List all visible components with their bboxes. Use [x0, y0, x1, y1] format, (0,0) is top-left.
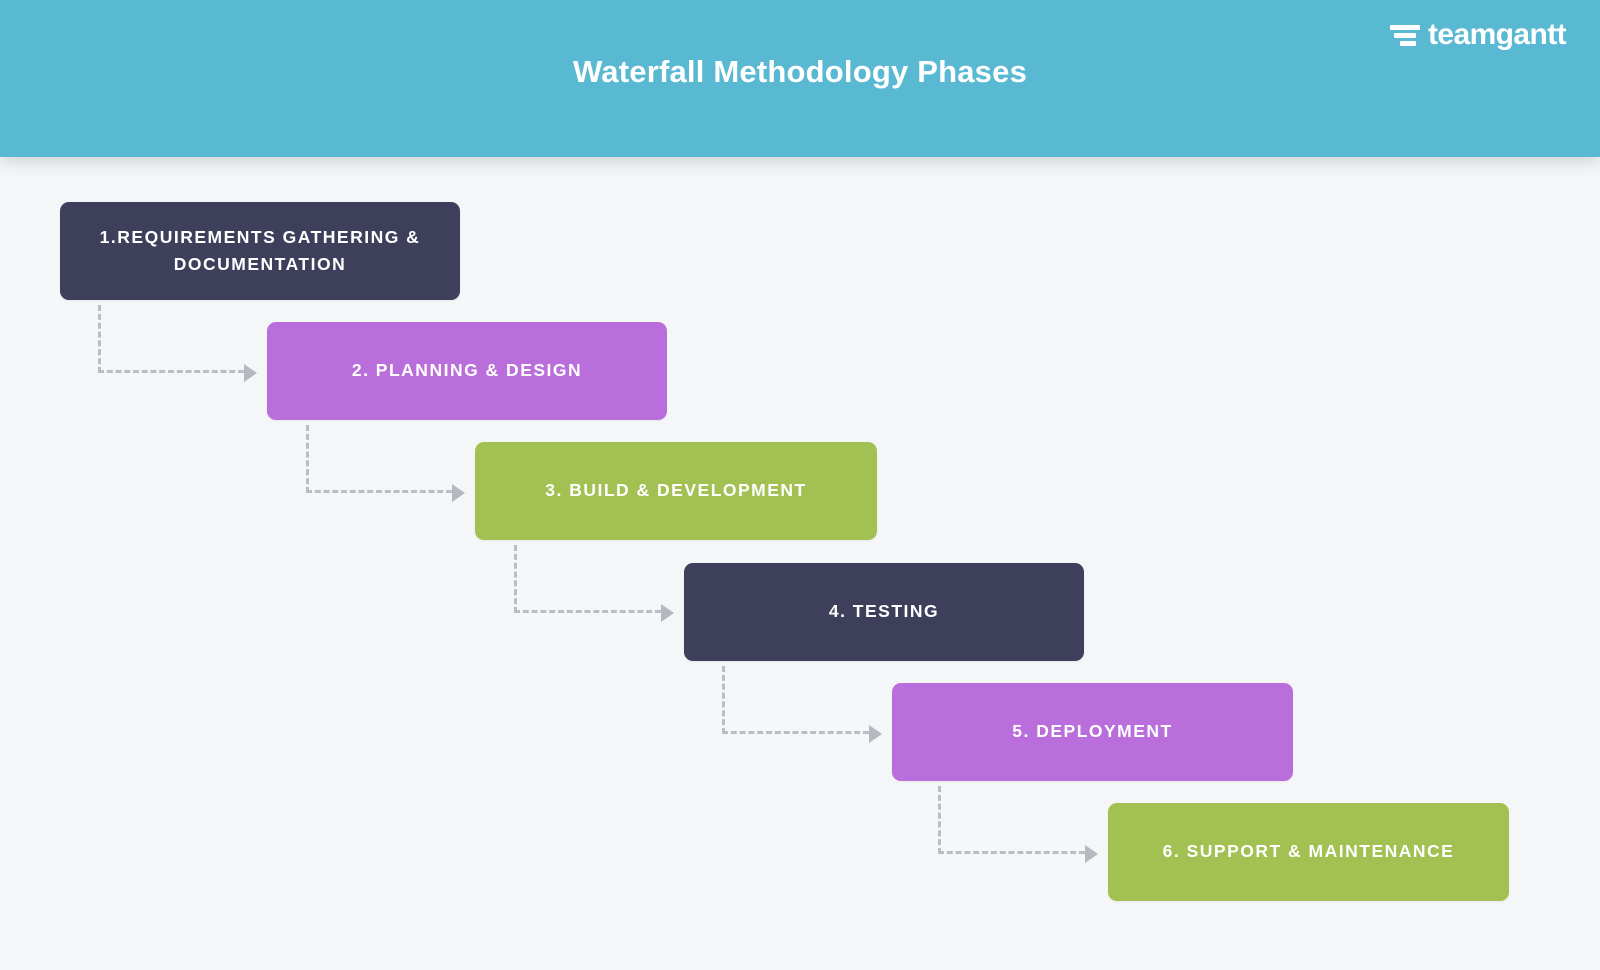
- connector-horizontal-segment: [514, 610, 661, 613]
- phase-box-2[interactable]: 2. PLANNING & DESIGN: [267, 322, 667, 420]
- connector-5-to-6: [938, 786, 1099, 854]
- connector-3-to-4: [514, 545, 675, 613]
- gantt-bars-icon: [1390, 22, 1420, 48]
- connector-horizontal-segment: [938, 851, 1085, 854]
- connector-horizontal-segment: [722, 731, 869, 734]
- phase-box-1[interactable]: 1.REQUIREMENTS GATHERING & DOCUMENTATION: [60, 202, 460, 300]
- phase-box-3[interactable]: 3. BUILD & DEVELOPMENT: [475, 442, 877, 540]
- connector-vertical-segment: [306, 425, 309, 493]
- diagram-canvas: 1.REQUIREMENTS GATHERING & DOCUMENTATION…: [0, 157, 1600, 970]
- connector-vertical-segment: [938, 786, 941, 854]
- phase-box-6[interactable]: 6. SUPPORT & MAINTENANCE: [1108, 803, 1509, 901]
- arrowhead-icon: [869, 725, 882, 743]
- arrowhead-icon: [1085, 845, 1098, 863]
- arrowhead-icon: [452, 484, 465, 502]
- connector-vertical-segment: [98, 305, 101, 373]
- arrowhead-icon: [661, 604, 674, 622]
- connector-horizontal-segment: [306, 490, 452, 493]
- connector-2-to-3: [306, 425, 466, 493]
- teamgantt-logo[interactable]: teamgantt: [1390, 20, 1566, 50]
- phase-box-4[interactable]: 4. TESTING: [684, 563, 1084, 661]
- page-title: Waterfall Methodology Phases: [0, 54, 1600, 90]
- connector-horizontal-segment: [98, 370, 244, 373]
- phase-box-5[interactable]: 5. DEPLOYMENT: [892, 683, 1293, 781]
- brand-name: teamgantt: [1428, 20, 1566, 50]
- connector-1-to-2: [98, 305, 258, 373]
- connector-vertical-segment: [514, 545, 517, 613]
- arrowhead-icon: [244, 364, 257, 382]
- connector-vertical-segment: [722, 666, 725, 734]
- page-header: Waterfall Methodology Phases teamgantt: [0, 0, 1600, 157]
- connector-4-to-5: [722, 666, 883, 734]
